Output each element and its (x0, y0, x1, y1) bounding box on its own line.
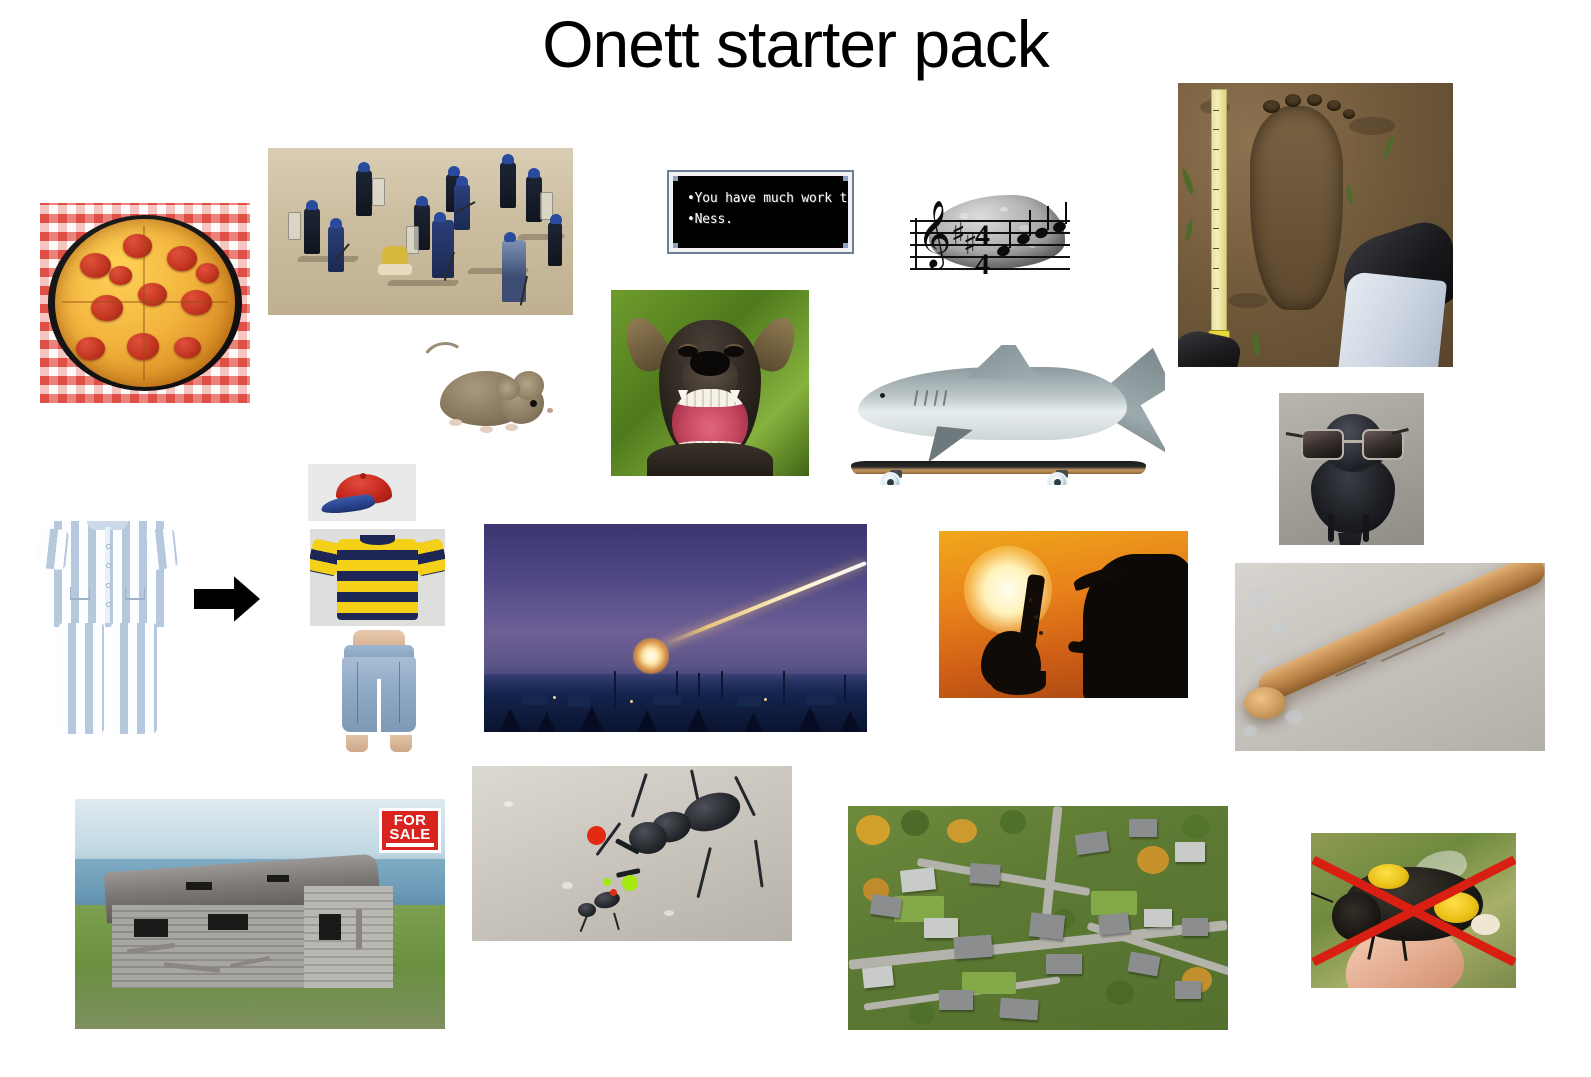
tile-ness-cap (308, 464, 416, 521)
shoe (1178, 327, 1243, 367)
tile-pizza (40, 203, 250, 403)
tile-shark-skateboard (845, 345, 1165, 485)
treble-clef-icon: 𝄞 (917, 204, 951, 262)
footprint (1250, 106, 1344, 310)
time-signature: 44 (975, 222, 990, 279)
tile-crow-sunglasses (1279, 393, 1424, 545)
for-sale-sign: FOR SALE (379, 808, 441, 853)
sunglasses-icon (1299, 429, 1406, 459)
bee-stripe (1471, 914, 1500, 936)
tile-denim-shorts (324, 630, 434, 752)
measuring-tape (1211, 89, 1227, 339)
pajama-top (45, 521, 171, 628)
marker-dot-red (610, 889, 617, 896)
bat-shaft (1254, 563, 1545, 705)
tile-pajamas (20, 512, 195, 734)
bat-knob (1244, 687, 1286, 719)
arrow-right-icon (194, 576, 260, 622)
page-title: Onett starter pack (0, 8, 1591, 81)
box-corner (671, 243, 678, 250)
box-corner (671, 174, 678, 181)
tile-riot-police (268, 148, 573, 315)
saxophonist-head (1116, 558, 1173, 608)
small-ant-body (592, 889, 621, 910)
shack-side-wall (304, 886, 393, 987)
marker-dot-green (622, 875, 638, 891)
box-corner (843, 243, 850, 250)
pajama-pants (59, 623, 157, 734)
cap-brim (320, 493, 376, 515)
tile-striped-shirt (310, 529, 445, 626)
meteor-head (633, 638, 669, 674)
shark-dorsal-fin (967, 345, 1037, 379)
tile-bigfoot-print (1178, 83, 1453, 367)
tile-shack-for-sale: FOR SALE (75, 799, 445, 1029)
skateboard-wheel (1047, 472, 1068, 485)
dialogue-line-1: •You have much work to do, (687, 188, 834, 209)
for-sale-line-2: SALE (389, 826, 430, 843)
riot-victim (382, 246, 408, 266)
skateboard-wheel (880, 472, 901, 485)
starter-pack-canvas: Onett starter pack (0, 0, 1591, 1077)
bee-antenna (1311, 892, 1333, 904)
leg (1338, 271, 1447, 367)
bee-stripe (1368, 864, 1409, 889)
tile-bee-crossed-out (1311, 833, 1516, 988)
box-corner (843, 174, 850, 181)
tile-baseball-bat (1235, 563, 1545, 751)
dog-nose (690, 351, 730, 375)
tile-mouse (418, 338, 558, 448)
dog-body (647, 443, 774, 476)
tile-ant-fight (472, 766, 792, 941)
marker-dot-green (603, 878, 611, 886)
marker-dot-red (587, 826, 606, 845)
tile-suburb-aerial (848, 806, 1228, 1030)
cap-button (360, 473, 366, 479)
tile-angry-dog (611, 290, 809, 476)
tile-meteor (484, 524, 867, 732)
tile-rock-music: 𝄞 ♯ ♯ 44 (905, 190, 1075, 280)
pizza-pie (55, 219, 236, 387)
tile-saxophone (939, 531, 1188, 698)
shirt-torso (337, 539, 418, 620)
dialogue-line-2: •Ness. (687, 209, 834, 230)
tile-dialogue-box[interactable]: •You have much work to do, •Ness. (669, 172, 852, 252)
